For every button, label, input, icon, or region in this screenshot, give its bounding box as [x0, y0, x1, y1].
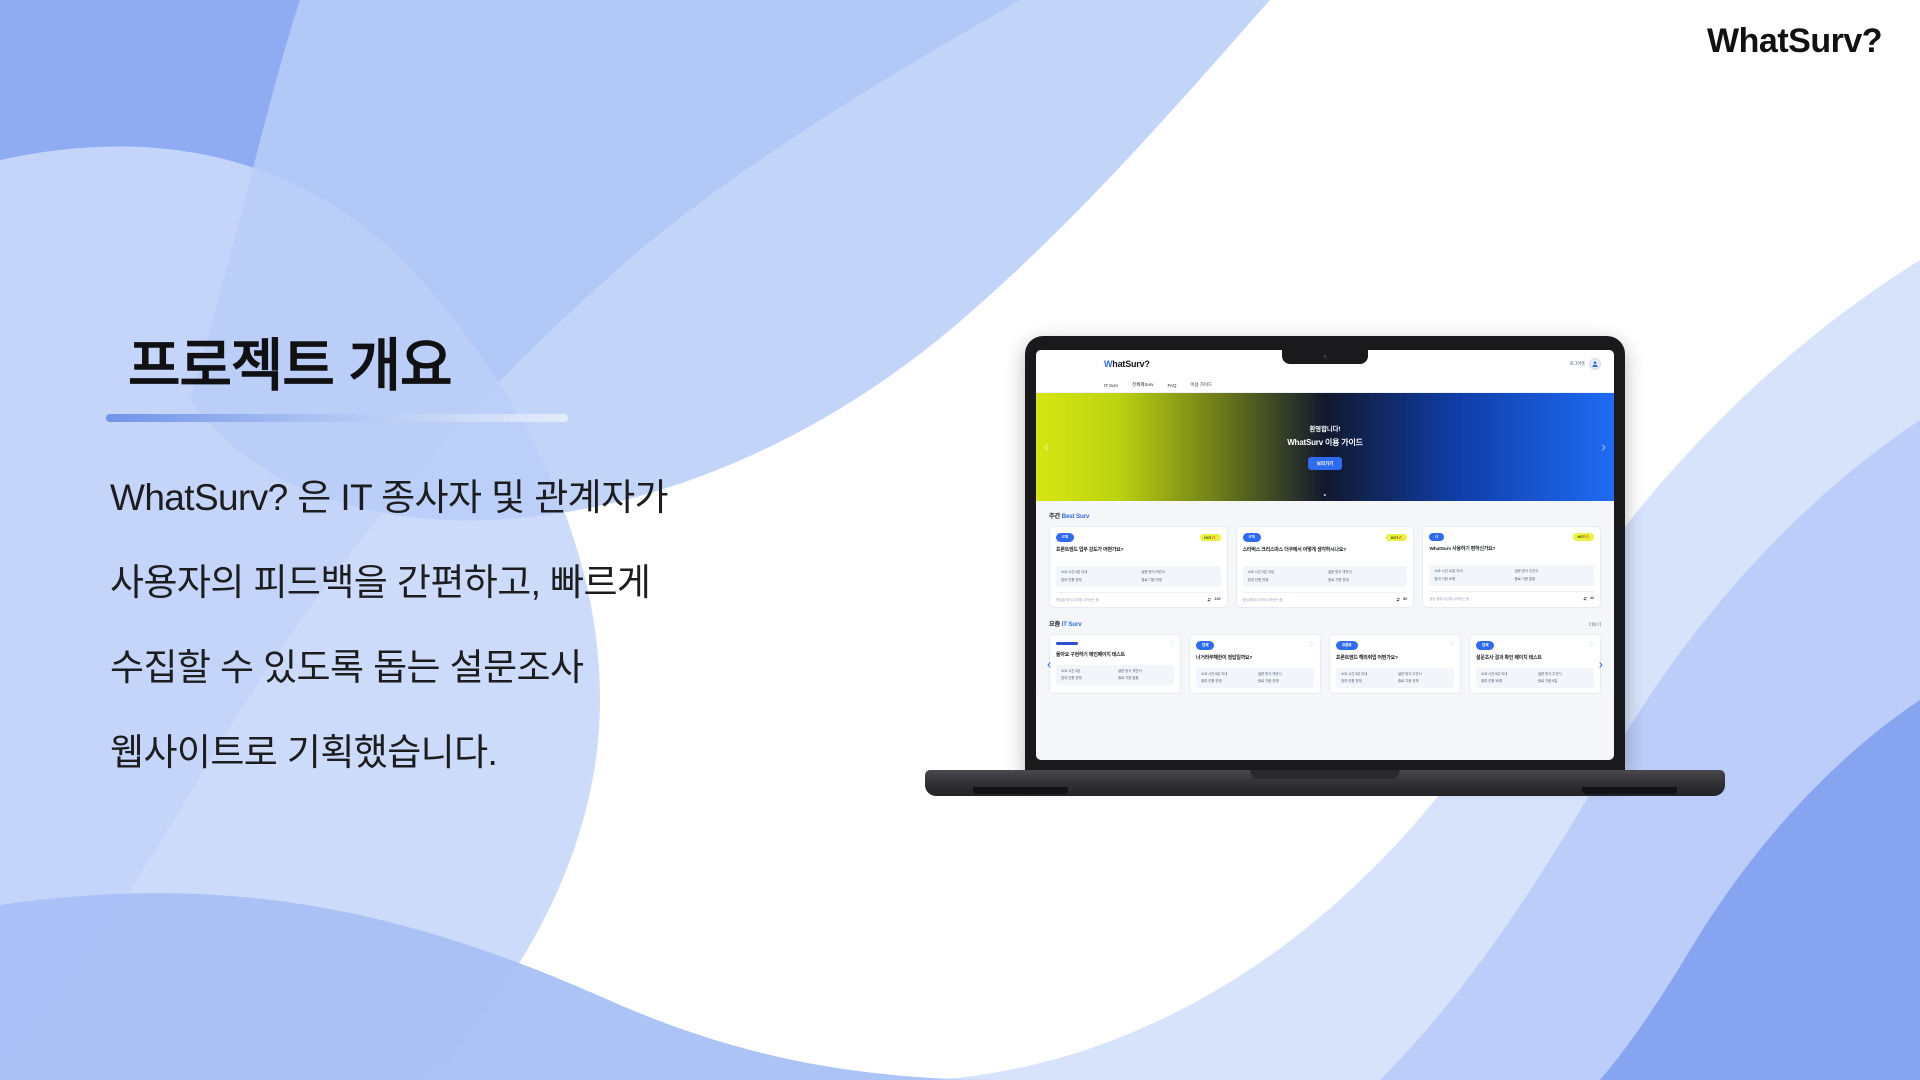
- nav-item-it-surv[interactable]: IT Surv: [1104, 383, 1118, 388]
- participant-count: 42: [1583, 596, 1594, 601]
- card-meta: 소요 시간 5분 이내 설문 방식 주관식 참여 인원 30명 종료 기한 5일: [1476, 668, 1594, 689]
- recent-next-icon[interactable]: ›: [1599, 657, 1603, 670]
- hot-badge: HOT🔥: [1573, 533, 1594, 541]
- card-title: 너거라무해한이 정답일까요?: [1196, 655, 1314, 663]
- meta-item: 종료 기한 전체: [1258, 679, 1309, 684]
- card-title: 프론트엔드 해외취업 어떤가요?: [1336, 655, 1454, 663]
- card-title: WhatSurv 사용하기 편하신가요?: [1429, 546, 1594, 560]
- meta-item: 소요 시간 3분: [1061, 669, 1112, 674]
- survey-card[interactable]: 전체 ♡ 너거라무해한이 정답일까요? 소요 시간 5분 이내 설문 방식 객관…: [1189, 634, 1321, 695]
- site-content: 주간 Best Surv IT직 HOT🔥 프론트엔드 업무 강도가 어떤가요?…: [1036, 501, 1614, 694]
- category-chip: [1056, 642, 1078, 644]
- recent-section-header: 요즘 IT Surv 더보기: [1049, 619, 1601, 628]
- site-logo-text: hatSurv?: [1112, 359, 1149, 369]
- laptop-base: [925, 770, 1725, 796]
- hero-dot[interactable]: [1324, 494, 1326, 496]
- user-avatar-icon[interactable]: [1589, 358, 1601, 370]
- meta-item: 참여 인원 전체: [1061, 578, 1135, 583]
- card-meta: 소요 시간 3분 설문 방식 객관식 참여 인원 전체 종료 기한 없음: [1056, 665, 1174, 686]
- card-title: 스타벅스 크리스마스 더쿠에서 어떻게 생각하시나요?: [1243, 547, 1408, 561]
- meta-item: 설문 방식 객관식: [1118, 669, 1169, 674]
- people-icon: [1583, 596, 1588, 601]
- slide-root: WhatSurv? 프로젝트 개요 WhatSurv? 은 IT 종사자 및 관…: [0, 0, 1920, 1080]
- laptop-lid: WhatSurv? 로그아웃 IT Surv 전체제Surv FAQ 이용 가이…: [1025, 336, 1625, 776]
- category-chip: IT직: [1056, 533, 1074, 542]
- hot-badge: HOT🔥: [1200, 534, 1221, 542]
- heart-outline-icon[interactable]: ♡: [1449, 642, 1454, 648]
- category-chip: 전체: [1476, 641, 1494, 650]
- card-foot-note: 응답 중에 오픈에 시작하는 중...: [1429, 596, 1471, 601]
- meta-item: 소요 시간 5분 이내: [1201, 672, 1252, 677]
- nav-item-all-surv[interactable]: 전체제Surv: [1132, 382, 1153, 388]
- body-line-3: 수집할 수 있도록 돕는 설문조사: [110, 625, 870, 710]
- participant-count: 80: [1396, 597, 1407, 602]
- best-title-prefix: 주간: [1049, 513, 1062, 520]
- survey-card[interactable]: ♡ 돌아요 구현하기 메인페이지 테스트 소요 시간 3분 설문 방식 객관식 …: [1049, 634, 1181, 695]
- recent-section-title: 요즘 IT Surv: [1049, 619, 1082, 628]
- brand-logo: WhatSurv?: [1707, 22, 1882, 61]
- heart-outline-icon[interactable]: ♡: [1309, 642, 1314, 648]
- card-title: 돌아요 구현하기 메인페이지 테스트: [1056, 652, 1174, 660]
- meta-item: 설문 방식 주관식: [1515, 569, 1589, 574]
- heart-outline-icon[interactable]: ♡: [1589, 642, 1594, 648]
- card-footer: 응답 중에 도착해 시작하는 중... 80: [1243, 592, 1408, 602]
- nav-item-faq[interactable]: FAQ: [1167, 383, 1176, 388]
- meta-item: 소요 시간 3분 이내: [1248, 570, 1322, 575]
- site-nav: IT Surv 전체제Surv FAQ 이용 가이드: [1036, 378, 1614, 393]
- people-icon: [1207, 597, 1212, 602]
- nav-item-guide[interactable]: 이용 가이드: [1190, 382, 1212, 388]
- card-meta: 소요 시간 5분 이내 설문 방식 주관식 참여 인원 전체 종료 기한 전체: [1336, 668, 1454, 689]
- card-foot-note: 응답을 중이 도착해 시작하는 중...: [1056, 597, 1101, 602]
- category-chip: 프론트: [1336, 641, 1358, 650]
- best-section-title: 주간 Best Surv: [1049, 511, 1089, 520]
- meta-item: 참여 인원 전체: [1061, 676, 1112, 681]
- meta-item: 소요 시간 5분 이내: [1341, 672, 1392, 677]
- meta-item: 종료 기한 5일: [1538, 679, 1589, 684]
- meta-item: 종료 기한 없음: [1515, 577, 1589, 582]
- laptop-base-notch: [1250, 770, 1400, 779]
- body-copy: WhatSurv? 은 IT 종사자 및 관계자가 사용자의 피드백을 간편하고…: [110, 455, 870, 795]
- laptop-foot-left: [973, 787, 1068, 794]
- meta-item: 종료 기한 없음: [1118, 676, 1169, 681]
- card-header: IT직 HOT🔥: [1056, 533, 1221, 542]
- survey-card[interactable]: IT직 HOT🔥 프론트엔드 업무 강도가 어떤가요? 소요 시간 3분 이내 …: [1049, 526, 1228, 608]
- meta-item: 참여 기한 20명: [1434, 577, 1508, 582]
- meta-item: 참여 인원 전체: [1201, 679, 1252, 684]
- body-line-4: 웹사이트로 기획했습니다.: [110, 710, 870, 795]
- meta-item: 종료 기한 전체: [1328, 578, 1402, 583]
- meta-item: 소요 시간 10분 이내: [1434, 569, 1508, 574]
- site-logo[interactable]: WhatSurv?: [1104, 359, 1150, 369]
- meta-item: 종료 기한 전체: [1398, 679, 1449, 684]
- card-header: IT HOT🔥: [1429, 533, 1594, 541]
- participant-count-value: 80: [1403, 597, 1407, 601]
- hero-line-2: WhatSurv 이용 가이드: [1287, 437, 1363, 448]
- card-title: 프론트엔드 업무 강도가 어떤가요?: [1056, 547, 1221, 561]
- hero-next-icon[interactable]: ›: [1601, 440, 1606, 455]
- category-chip: IT: [1429, 533, 1444, 541]
- best-title-accent: Best Surv: [1062, 513, 1090, 520]
- heart-outline-icon[interactable]: ♡: [1169, 641, 1174, 647]
- hero-dots[interactable]: [1324, 494, 1326, 496]
- hero-banner: ‹ › 환영합니다! WhatSurv 이용 가이드 보러가기: [1036, 393, 1614, 501]
- best-section-header: 주간 Best Surv: [1049, 511, 1601, 520]
- survey-card[interactable]: IT직 HOT🔥 스타벅스 크리스마스 더쿠에서 어떻게 생각하시나요? 소요 …: [1236, 526, 1415, 608]
- meta-item: 설문 방식 주관식: [1538, 672, 1589, 677]
- meta-item: 소요 시간 5분 이내: [1481, 672, 1532, 677]
- meta-item: 참여 인원 30명: [1481, 679, 1532, 684]
- recent-more-link[interactable]: 더보기: [1589, 622, 1601, 628]
- participant-count-value: 42: [1590, 596, 1594, 600]
- survey-card[interactable]: 전체 ♡ 설문조사 결과 확인 페이지 테스트 소요 시간 5분 이내 설문 방…: [1469, 634, 1601, 695]
- people-icon: [1396, 597, 1401, 602]
- laptop-mockup: WhatSurv? 로그아웃 IT Surv 전체제Surv FAQ 이용 가이…: [925, 336, 1725, 806]
- title-underline: [106, 414, 568, 422]
- card-header: 전체 ♡: [1476, 641, 1594, 650]
- card-title: 설문조사 결과 확인 페이지 테스트: [1476, 655, 1594, 663]
- participant-count: 120: [1207, 597, 1220, 602]
- hero-cta-button[interactable]: 보러가기: [1308, 457, 1343, 470]
- category-chip: IT직: [1243, 533, 1261, 542]
- recent-title-prefix: 요즘: [1049, 621, 1062, 628]
- laptop-screen: WhatSurv? 로그아웃 IT Surv 전체제Surv FAQ 이용 가이…: [1036, 350, 1614, 760]
- participant-count-value: 120: [1214, 597, 1220, 601]
- survey-card[interactable]: 프론트 ♡ 프론트엔드 해외취업 어떤가요? 소요 시간 5분 이내 설문 방식…: [1329, 634, 1461, 695]
- card-foot-note: 응답 중에 도착해 시작하는 중...: [1243, 597, 1285, 602]
- card-header: 전체 ♡: [1196, 641, 1314, 650]
- laptop-foot-right: [1582, 787, 1677, 794]
- hero-prev-icon[interactable]: ‹: [1044, 440, 1049, 455]
- card-footer: 응답을 중이 도착해 시작하는 중... 120: [1056, 592, 1221, 602]
- screen-notch: [1282, 350, 1368, 364]
- card-meta: 소요 시간 3분 이내 설문 방식 객관식 참여 인원 전체 종료 기한 전체: [1056, 566, 1221, 587]
- meta-item: 설문 방식 객관식: [1141, 570, 1215, 575]
- page-title: 프로젝트 개요: [128, 320, 451, 402]
- site-header-actions: 로그아웃: [1570, 358, 1601, 370]
- category-chip: 전체: [1196, 641, 1214, 650]
- hot-badge: HOT🔥: [1386, 534, 1407, 542]
- body-line-1: WhatSurv? 은 IT 종사자 및 관계자가: [110, 455, 870, 540]
- card-meta: 소요 시간 3분 이내 설문 방식 객관식 참여 인원 전체 종료 기한 전체: [1243, 566, 1408, 587]
- recent-prev-icon[interactable]: ‹: [1047, 657, 1051, 670]
- meta-item: 소요 시간 3분 이내: [1061, 570, 1135, 575]
- meta-item: 종료 기한 전체: [1141, 578, 1215, 583]
- logout-link[interactable]: 로그아웃: [1570, 361, 1585, 367]
- meta-item: 설문 방식 객관식: [1258, 672, 1309, 677]
- meta-item: 설문 방식 객관식: [1328, 570, 1402, 575]
- card-header: ♡: [1056, 641, 1174, 647]
- recent-title-accent: IT Surv: [1062, 621, 1082, 628]
- meta-item: 참여 인원 전체: [1248, 578, 1322, 583]
- body-line-2: 사용자의 피드백을 간편하고, 빠르게: [110, 540, 870, 625]
- recent-card-row: ‹ › ♡ 돌아요 구현하기 메인페이지 테스트 소요 시간 3분 설문 방식 …: [1049, 634, 1601, 695]
- meta-item: 설문 방식 주관식: [1398, 672, 1449, 677]
- meta-item: 참여 인원 전체: [1341, 679, 1392, 684]
- card-meta: 소요 시간 10분 이내 설문 방식 주관식 참여 기한 20명 종료 기한 없…: [1429, 565, 1594, 586]
- best-card-row: IT직 HOT🔥 프론트엔드 업무 강도가 어떤가요? 소요 시간 3분 이내 …: [1049, 526, 1601, 608]
- card-meta: 소요 시간 5분 이내 설문 방식 객관식 참여 인원 전체 종료 기한 전체: [1196, 668, 1314, 689]
- hero-line-1: 환영합니다!: [1310, 424, 1341, 433]
- webcam-icon: [1324, 355, 1327, 358]
- blob-bottom-wave: [0, 893, 1010, 1080]
- card-header: 프론트 ♡: [1336, 641, 1454, 650]
- card-header: IT직 HOT🔥: [1243, 533, 1408, 542]
- card-footer: 응답 중에 오픈에 시작하는 중... 42: [1429, 591, 1594, 601]
- survey-card[interactable]: IT HOT🔥 WhatSurv 사용하기 편하신가요? 소요 시간 10분 이…: [1422, 526, 1601, 608]
